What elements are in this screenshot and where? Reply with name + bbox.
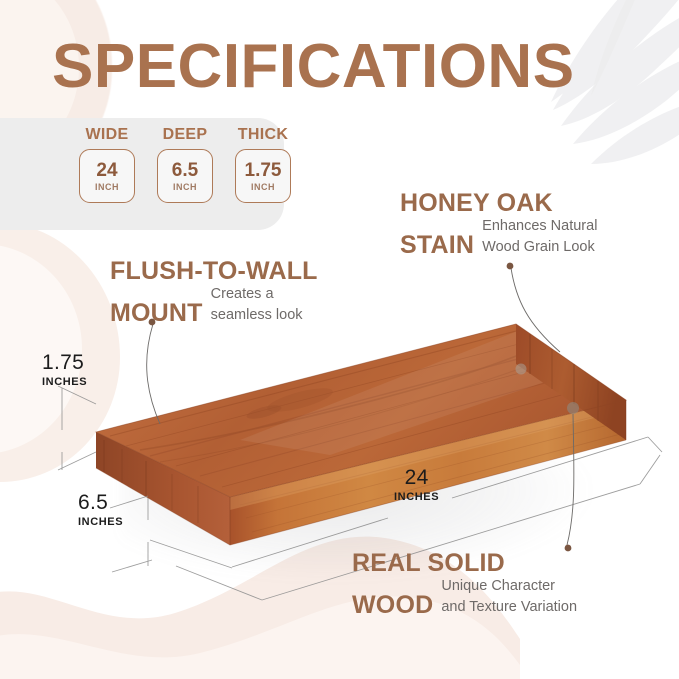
feature-real-solid-wood: REAL SOLID WOOD Unique Character and Tex… — [352, 550, 577, 619]
shelf-illustration — [0, 0, 679, 679]
feature-honey-oak-stain: HONEY OAK STAIN Enhances Natural Wood Gr… — [400, 190, 597, 259]
dimension-thickness-unit: INCHES — [42, 376, 87, 388]
dimension-depth-value: 6.5 — [78, 492, 123, 513]
dimension-width-value: 24 — [394, 467, 439, 488]
specifications-infographic: SPECIFICATIONS WIDE 24 INCH DEEP 6.5 INC… — [0, 0, 679, 679]
feature-real-heading-line2: WOOD — [352, 592, 433, 619]
feature-flush-heading-line2: MOUNT — [110, 300, 203, 327]
feature-flush-to-wall-mount: FLUSH-TO-WALL MOUNT Creates a seamless l… — [110, 258, 318, 327]
dimension-thickness: 1.75 INCHES — [42, 352, 87, 388]
feature-real-heading-line1: REAL SOLID — [352, 550, 577, 577]
feature-flush-sub-line2: seamless look — [211, 306, 303, 327]
feature-real-sub-line2: and Texture Variation — [441, 598, 577, 619]
feature-flush-heading-line1: FLUSH-TO-WALL — [110, 258, 318, 285]
dimension-width: 24 INCHES — [394, 467, 439, 503]
feature-honey-sub-line1: Enhances Natural — [482, 217, 597, 238]
feature-real-sub-line1: Unique Character — [441, 577, 577, 598]
dimension-depth: 6.5 INCHES — [78, 492, 123, 528]
dimension-thickness-value: 1.75 — [42, 352, 87, 373]
feature-honey-sub-line2: Wood Grain Look — [482, 238, 597, 259]
dimension-width-unit: INCHES — [394, 491, 439, 503]
dimension-depth-unit: INCHES — [78, 516, 123, 528]
feature-flush-sub-line1: Creates a — [211, 285, 303, 306]
feature-honey-heading-line2: STAIN — [400, 232, 474, 259]
feature-honey-heading-line1: HONEY OAK — [400, 190, 597, 217]
